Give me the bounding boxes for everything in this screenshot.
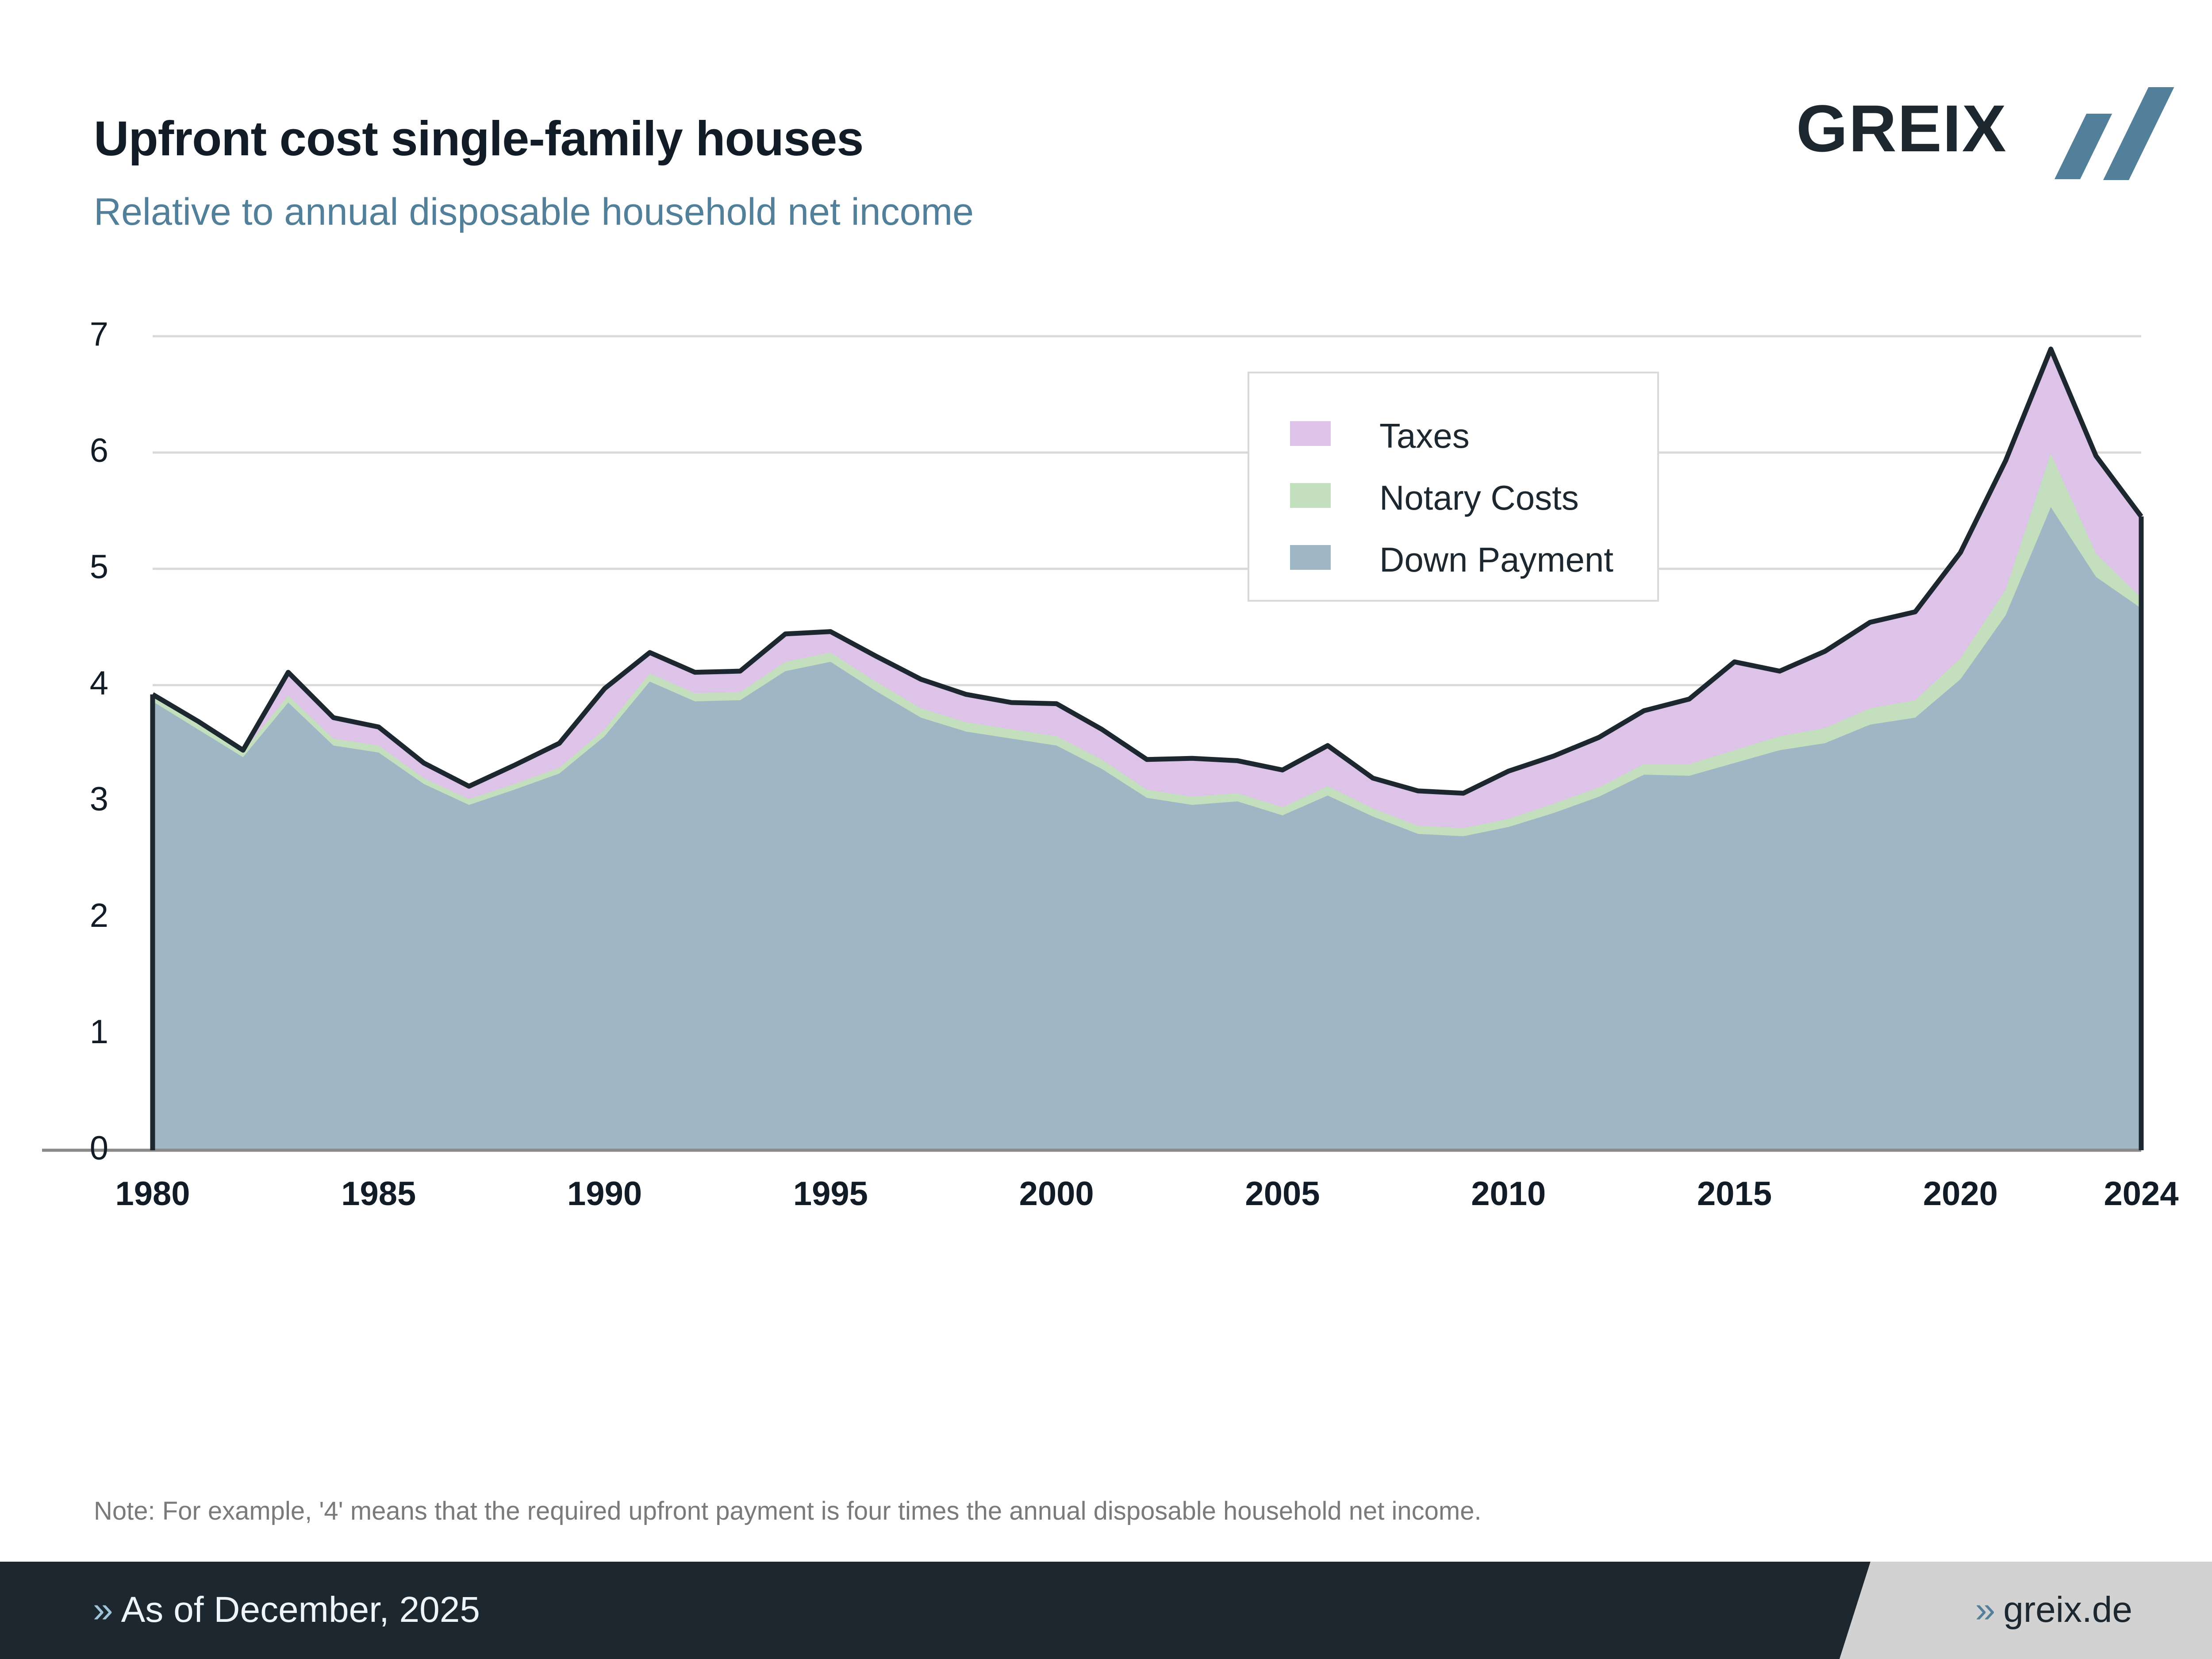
x-tick-label: 2005 xyxy=(1194,1175,1371,1213)
y-tick-label: 5 xyxy=(42,548,108,586)
logo-wordmark: GREIX xyxy=(1796,95,2007,161)
chevron-right-icon: » xyxy=(93,1590,113,1630)
area-chart-svg xyxy=(0,283,2212,1433)
footer-website-text: greix.de xyxy=(2003,1590,2132,1630)
x-tick-label: 2015 xyxy=(1646,1175,1823,1213)
x-tick-label: 2024 xyxy=(2053,1175,2212,1213)
greix-logo: GREIX xyxy=(1796,95,2132,179)
y-tick-label: 4 xyxy=(42,664,108,703)
page-footer: »As of December, 2025 »greix.de xyxy=(0,1562,2212,1659)
stacked-areas xyxy=(153,349,2141,1150)
chart-legend[interactable]: TaxesNotary CostsDown Payment xyxy=(1248,372,1659,602)
y-tick-label: 3 xyxy=(42,780,108,818)
footer-date-text: As of December, 2025 xyxy=(121,1590,480,1630)
footer-website-link[interactable]: »greix.de xyxy=(1975,1589,2132,1631)
legend-swatch-icon xyxy=(1290,545,1331,570)
x-tick-label: 1995 xyxy=(742,1175,919,1213)
page-subtitle: Relative to annual disposable household … xyxy=(94,190,974,234)
chart-plot-area: 01234567 1980198519901995200020052010201… xyxy=(0,283,2212,1433)
logo-slash-secondary-icon xyxy=(2055,114,2112,179)
legend-swatch-icon xyxy=(1290,483,1331,508)
page-title: Upfront cost single-family houses xyxy=(94,111,863,167)
legend-label: Down Payment xyxy=(1379,540,1613,580)
legend-label: Taxes xyxy=(1379,416,1470,456)
chevron-right-icon-2: » xyxy=(1975,1590,1996,1630)
y-tick-label: 1 xyxy=(42,1013,108,1051)
x-tick-label: 1990 xyxy=(516,1175,693,1213)
y-tick-label: 2 xyxy=(42,896,108,935)
legend-label: Notary Costs xyxy=(1379,478,1579,518)
legend-swatch-icon xyxy=(1290,421,1331,446)
chart-note: Note: For example, '4' means that the re… xyxy=(94,1496,1482,1526)
y-tick-label: 7 xyxy=(42,315,108,353)
footer-date-label: »As of December, 2025 xyxy=(93,1589,480,1631)
area-series-down-payment xyxy=(153,507,2141,1150)
y-tick-label: 6 xyxy=(42,431,108,470)
x-tick-label: 2020 xyxy=(1872,1175,2049,1213)
y-tick-label: 0 xyxy=(42,1129,108,1167)
x-tick-label: 1985 xyxy=(290,1175,467,1213)
x-tick-label: 2010 xyxy=(1420,1175,1597,1213)
x-tick-label: 1980 xyxy=(64,1175,241,1213)
x-tick-label: 2000 xyxy=(968,1175,1145,1213)
